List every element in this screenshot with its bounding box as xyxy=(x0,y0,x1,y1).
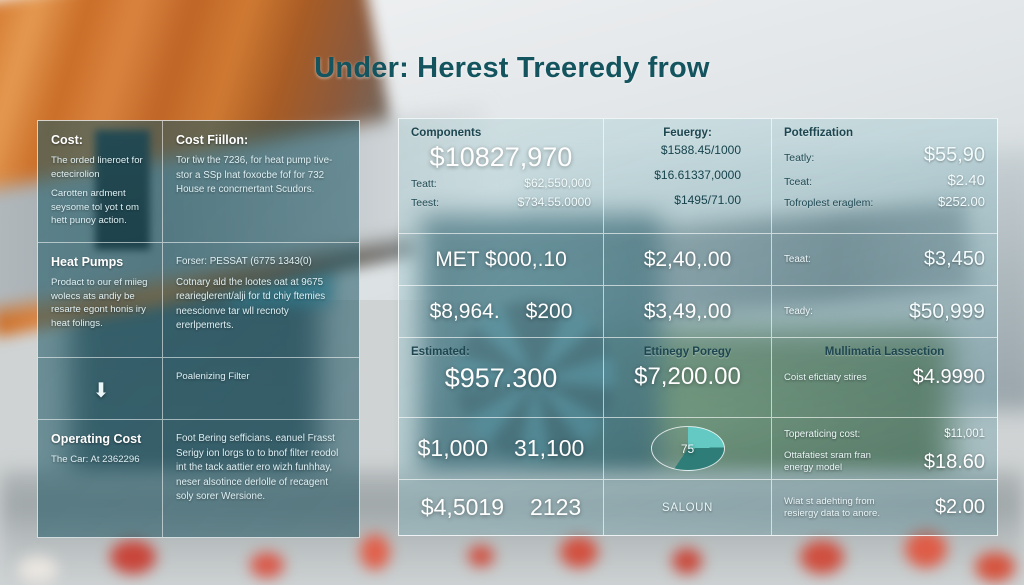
r6-note-value: $2.00 xyxy=(935,496,985,519)
r3-pair: $8,964. $200 xyxy=(411,300,591,323)
feuergy-line-2: $16.61337,0000 xyxy=(616,168,759,182)
saloon-wrap: SALOUN xyxy=(616,488,759,527)
left-cell-forser[interactable]: Forser: PESSAT (6775 1343(0) Cotnary ald… xyxy=(163,243,359,358)
r2-feuergy-wrap: $2,40,.00 xyxy=(616,242,759,277)
left-cell-filter-description-text: Foot Bering sefficians. eanuel Frasst Se… xyxy=(176,432,348,505)
r3-teady-wrap: Teady: $50,999 xyxy=(784,294,985,329)
left-cell-filter-description[interactable]: Foot Bering sefficians. eanuel Frasst Se… xyxy=(163,420,359,537)
r3-teady-value: $50,999 xyxy=(909,300,985,324)
r6-pair-wrap: $4,5019 2123 xyxy=(411,488,591,527)
left-cell-cost[interactable]: Cost: The orded lineroet for ectecirolio… xyxy=(38,121,163,243)
components-row-1-label: Teatt: xyxy=(411,178,437,190)
r6-value-a: $4,5019 xyxy=(421,495,504,520)
metric-cell-components[interactable]: Components $10827,970 Teatt: $62,550,000… xyxy=(399,119,604,234)
r2-teaat-kv: Teaat: $3,450 xyxy=(784,248,985,271)
metric-cell-ettinegy[interactable]: Ettinegy Poregy $7,200.00 xyxy=(604,338,772,418)
left-info-panel: Cost: The orded lineroet for ectecirolio… xyxy=(37,120,360,538)
donut-center-label: 75 xyxy=(652,427,724,470)
left-cell-cost-fillon-heading: Cost Fiillon: xyxy=(176,133,348,147)
left-cell-forser-text: Cotnary ald the lootes oat at 9675 reari… xyxy=(176,276,348,334)
feuergy-line-1: $1588.45/1000 xyxy=(616,143,759,157)
metric-cell-r6-pair[interactable]: $4,5019 2123 xyxy=(399,480,604,535)
metrics-table: Components $10827,970 Teatt: $62,550,000… xyxy=(398,118,998,536)
r2-feuergy-value: $2,40,.00 xyxy=(644,248,732,271)
r3-value-b: $200 xyxy=(526,300,573,323)
energy-model-value: $18.60 xyxy=(924,451,985,474)
poteffization-row-1-label: Teatly: xyxy=(784,152,814,164)
mullimatia-kv: Coist efictiaty stires $4.9990 xyxy=(784,366,985,389)
components-big-value: $10827,970 xyxy=(411,143,591,171)
r3-teady-label: Teady: xyxy=(784,306,813,317)
poteffization-row-2: Tceat: $2.40 xyxy=(784,172,985,189)
metric-cell-r3-feuergy[interactable]: $3,49,.00 xyxy=(604,286,772,338)
poteffization-row-1-value: $55,90 xyxy=(924,144,985,167)
r3-feuergy-wrap: $3,49,.00 xyxy=(616,294,759,329)
metric-cell-estimated[interactable]: Estimated: $957.300 xyxy=(399,338,604,418)
r3-value-a: $8,964. xyxy=(430,300,500,323)
feuergy-line-3: $1495/71.00 xyxy=(616,193,759,207)
metric-cell-operating-costs[interactable]: Toperaticing cost: $11,001 Ottafatiest s… xyxy=(772,418,997,480)
r3-pair-wrap: $8,964. $200 xyxy=(411,294,591,329)
down-arrow-icon: ⬇ xyxy=(93,381,110,401)
poteffization-row-3: Tofroplest eraglem: $252.00 xyxy=(784,194,985,209)
page-title: Under: Herest Treeredy frow xyxy=(0,52,1024,85)
metric-cell-met[interactable]: MET $000,.10 xyxy=(399,234,604,286)
left-cell-polarizing-filter[interactable]: Poalenizing Filter xyxy=(163,358,359,420)
left-cell-operating-cost-heading: Operating Cost xyxy=(51,432,151,446)
mullimatia-label: Coist efictiaty stires xyxy=(784,372,867,384)
poteffization-row-3-label: Tofroplest eraglem: xyxy=(784,197,873,209)
met-value-wrap: MET $000,.10 xyxy=(411,242,591,277)
metric-cell-r6-note[interactable]: Wiat st adehting from resiergy data to a… xyxy=(772,480,997,535)
poteffization-row-2-label: Tceat: xyxy=(784,176,812,188)
r5-value-b: 31,100 xyxy=(514,436,584,461)
components-row-2-value: $734.55.0000 xyxy=(518,195,591,209)
poteffization-row-3-value: $252.00 xyxy=(938,194,985,209)
energy-model-kv: Ottafatiest sram fran energy model $18.6… xyxy=(784,450,985,474)
met-value: MET $000,.10 xyxy=(435,248,567,271)
r6-note-kv: Wiat st adehting from resiergy data to a… xyxy=(784,496,985,520)
donut-chart: 75 xyxy=(651,426,725,471)
components-row-1: Teatt: $62,550,000 xyxy=(411,176,591,190)
poteffization-row-1: Teatly: $55,90 xyxy=(784,144,985,167)
left-cell-cost-text-2: Carotten ardment seysome tol yot t om he… xyxy=(51,187,151,228)
estimated-header: Estimated: xyxy=(411,346,591,358)
metric-cell-mullimatia[interactable]: Mullimatia Lassection Coist efictiaty st… xyxy=(772,338,997,418)
left-cell-cost-text-1: The orded lineroet for ectecirolion xyxy=(51,154,151,181)
r6-note-label: Wiat st adehting from resiergy data to a… xyxy=(784,496,896,520)
left-cell-heat-pumps-heading: Heat Pumps xyxy=(51,255,151,269)
ettinegy-header: Ettinegy Poregy xyxy=(616,346,759,358)
r5-pair-wrap: $1,000 31,100 xyxy=(411,426,591,471)
left-cell-heat-pumps-text: Prodact to our ef miieg wolecs ats andiy… xyxy=(51,276,151,330)
metric-cell-r2-teaat[interactable]: Teaat: $3,450 xyxy=(772,234,997,286)
r3-teady-kv: Teady: $50,999 xyxy=(784,300,985,324)
r5-pair: $1,000 31,100 xyxy=(411,436,591,461)
estimated-value: $957.300 xyxy=(411,364,591,392)
metric-cell-r3-pair[interactable]: $8,964. $200 xyxy=(399,286,604,338)
poteffization-header: Poteffization xyxy=(784,127,985,139)
r6-note-wrap: Wiat st adehting from resiergy data to a… xyxy=(784,488,985,527)
metric-cell-r2-feuergy[interactable]: $2,40,.00 xyxy=(604,234,772,286)
r6-pair: $4,5019 2123 xyxy=(411,495,591,520)
saloon-caption: SALOUN xyxy=(662,502,713,514)
operating-cost-value: $11,001 xyxy=(944,428,985,440)
mullimatia-header: Mullimatia Lassection xyxy=(784,346,985,358)
metric-cell-feuergy[interactable]: Feuergy: $1588.45/1000 $16.61337,0000 $1… xyxy=(604,119,772,234)
energy-model-label: Ottafatiest sram fran energy model xyxy=(784,450,896,474)
left-cell-polarizing-filter-label: Poalenizing Filter xyxy=(176,370,348,384)
components-header: Components xyxy=(411,127,591,139)
r2-teaat-value: $3,450 xyxy=(924,248,985,271)
poteffization-row-2-value: $2.40 xyxy=(947,172,985,189)
r6-value-b: 2123 xyxy=(530,495,581,520)
donut-chart-wrap: 75 xyxy=(616,426,759,471)
operating-cost-kv: Toperaticing cost: $11,001 xyxy=(784,428,985,440)
left-cell-forser-code: Forser: PESSAT (6775 1343(0) xyxy=(176,255,348,270)
metric-cell-poteffization[interactable]: Poteffization Teatly: $55,90 Tceat: $2.4… xyxy=(772,119,997,234)
components-row-2-label: Teest: xyxy=(411,197,439,209)
mullimatia-value: $4.9990 xyxy=(913,366,985,389)
r2-teaat-wrap: Teaat: $3,450 xyxy=(784,242,985,277)
operating-cost-label: Toperaticing cost: xyxy=(784,429,860,440)
left-cell-cost-heading: Cost: xyxy=(51,133,151,147)
ettinegy-value: $7,200.00 xyxy=(616,364,759,389)
metric-cell-donut-chart[interactable]: 75 xyxy=(604,418,772,480)
left-cell-heat-pumps[interactable]: Heat Pumps Prodact to our ef miieg wolec… xyxy=(38,243,163,358)
r3-feuergy-value: $3,49,.00 xyxy=(644,300,732,323)
metric-cell-r5-pair[interactable]: $1,000 31,100 xyxy=(399,418,604,480)
feuergy-header: Feuergy: xyxy=(616,127,759,139)
metric-cell-saloon[interactable]: SALOUN xyxy=(604,480,772,535)
r2-teaat-label: Teaat: xyxy=(784,254,811,265)
components-row-1-value: $62,550,000 xyxy=(524,176,591,190)
metric-cell-r3-teady[interactable]: Teady: $50,999 xyxy=(772,286,997,338)
left-cell-operating-cost[interactable]: Operating Cost The Car: At 2362296 xyxy=(38,420,163,537)
r5-value-a: $1,000 xyxy=(418,436,488,461)
left-cell-cost-fillon-text: Tor tiw the 7236, for heat pump tive-sto… xyxy=(176,154,348,198)
left-cell-cost-fillon[interactable]: Cost Fiillon: Tor tiw the 7236, for heat… xyxy=(163,121,359,243)
left-cell-arrow: ⬇ xyxy=(38,358,163,420)
left-cell-operating-cost-value: The Car: At 2362296 xyxy=(51,453,151,467)
components-row-2: Teest: $734.55.0000 xyxy=(411,195,591,209)
